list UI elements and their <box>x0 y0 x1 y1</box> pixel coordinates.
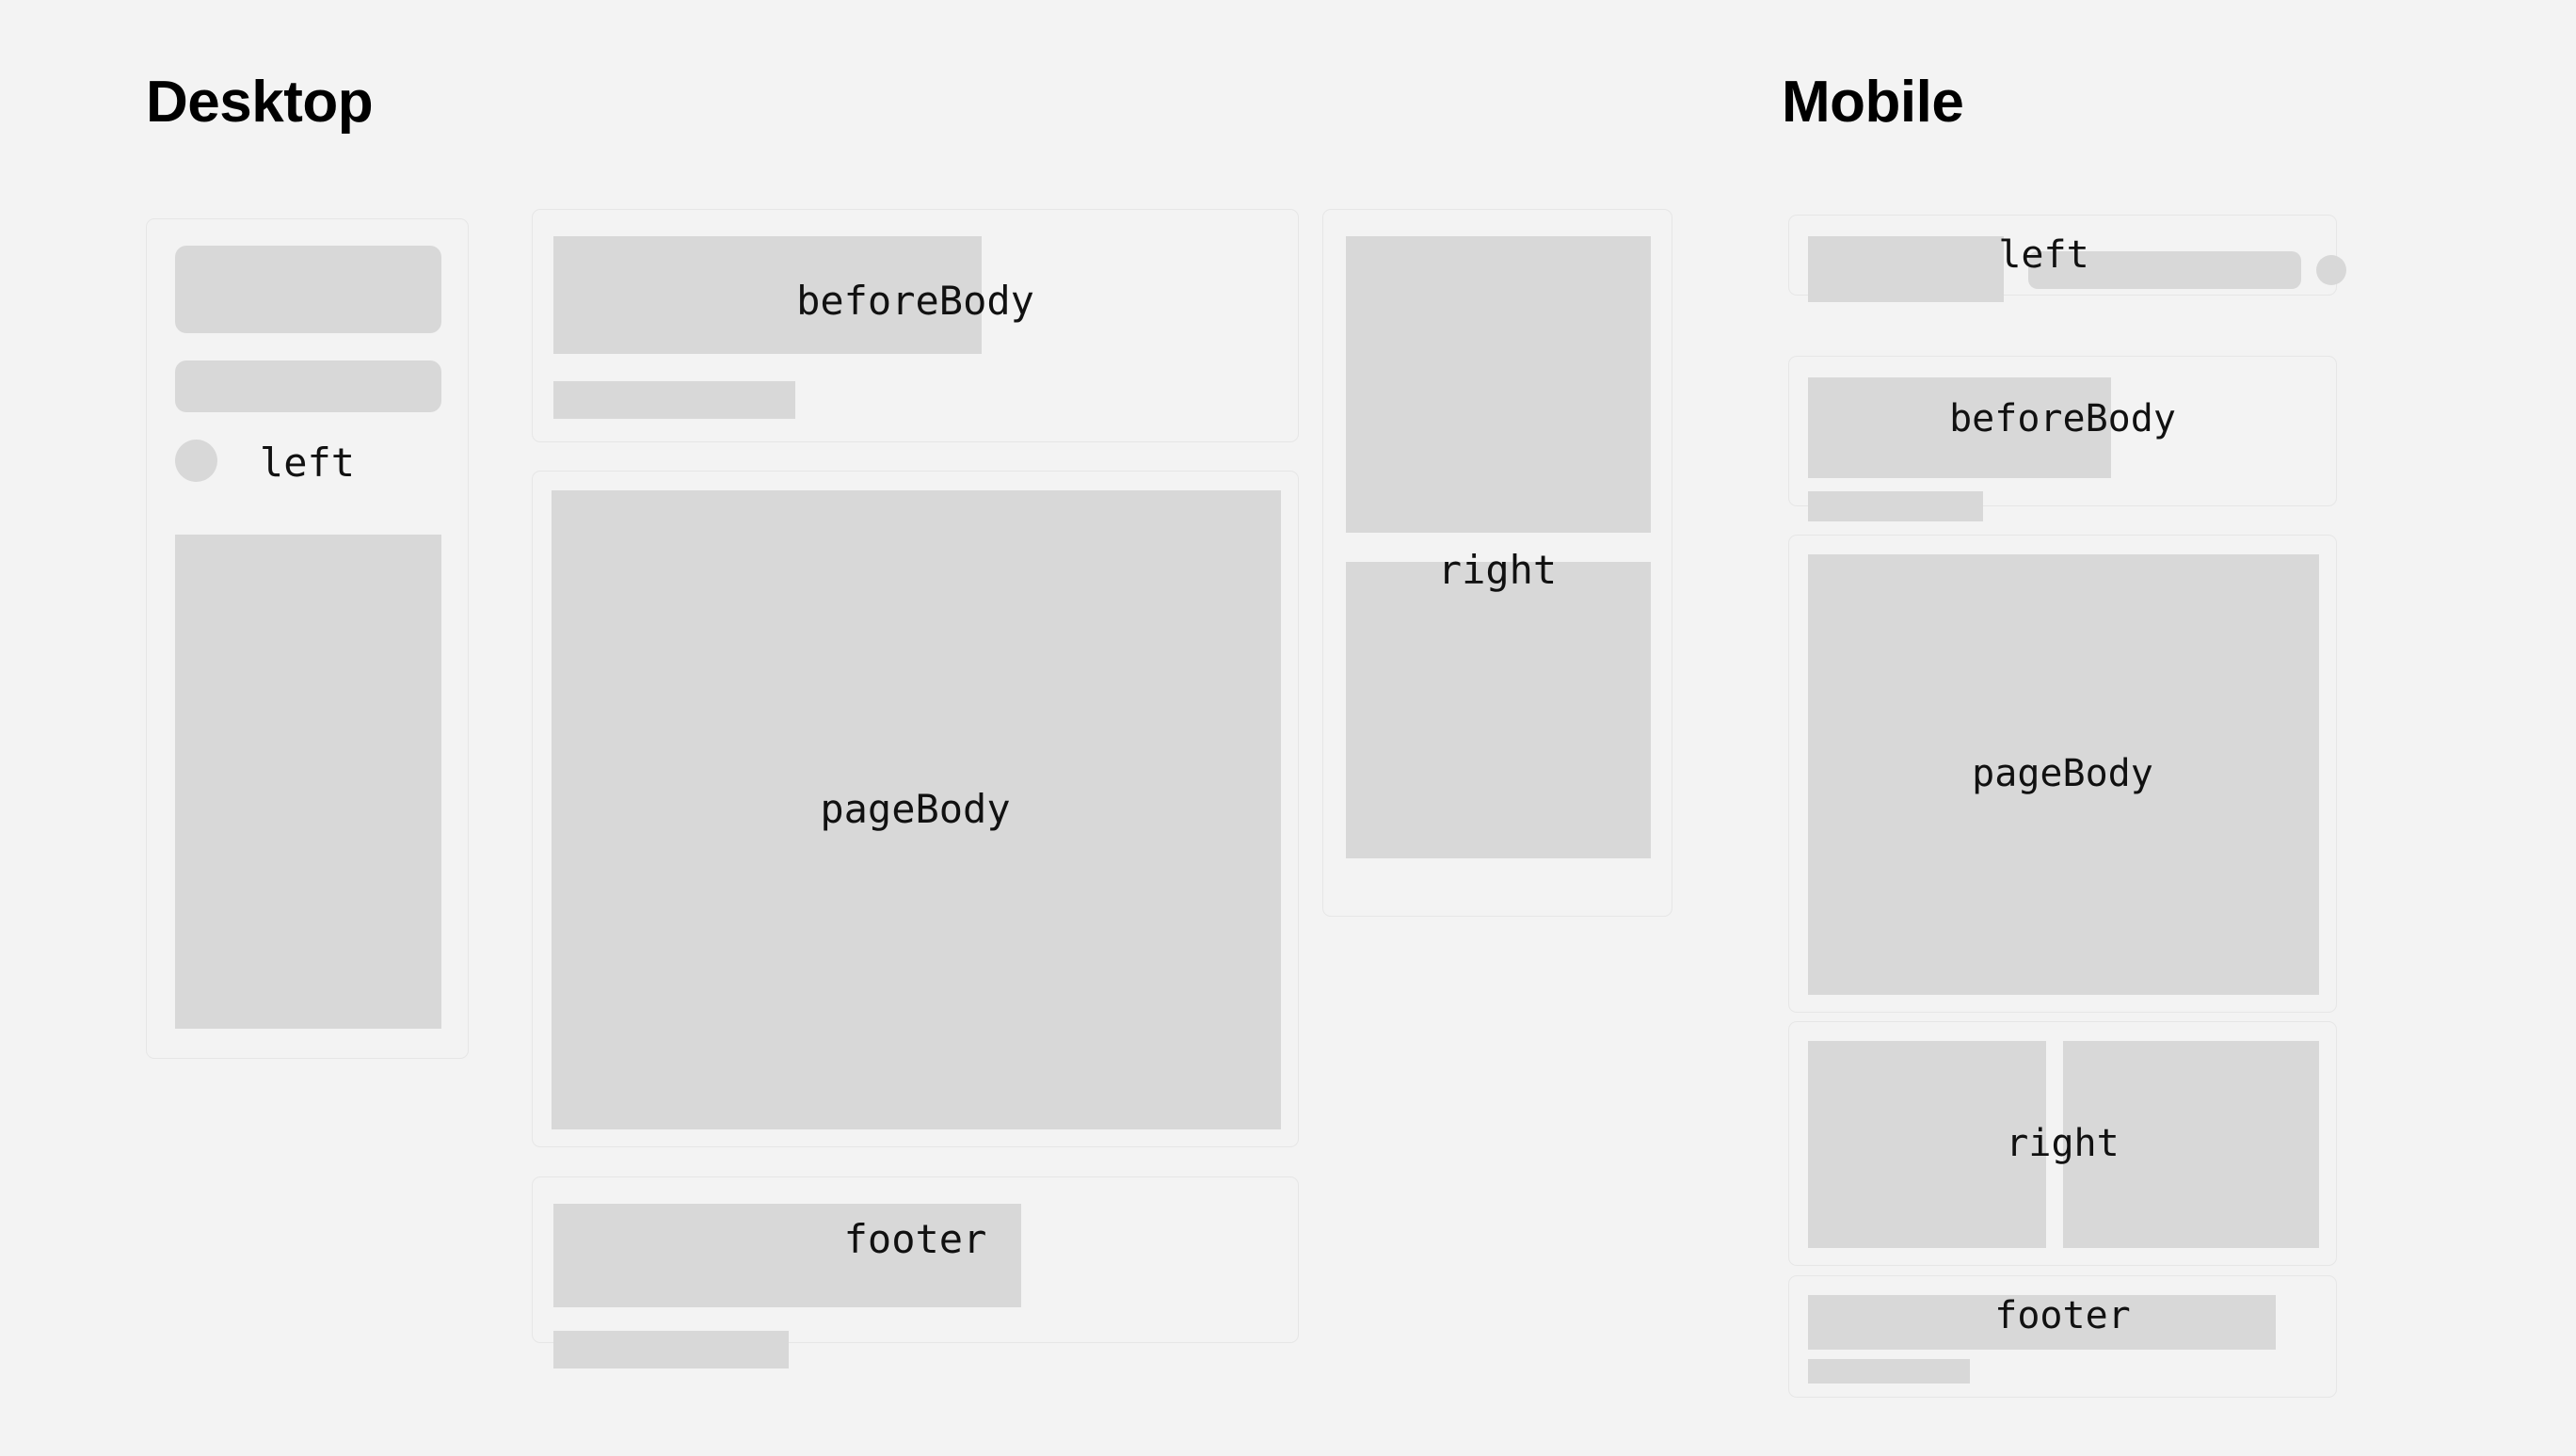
skeleton-block <box>1808 377 2111 478</box>
mobile-section-heading: Mobile <box>1782 73 1963 132</box>
skeleton-block <box>2063 1041 2319 1248</box>
skeleton-block <box>1808 1359 1970 1384</box>
mobile-right-slot-panel[interactable] <box>1788 1021 2337 1266</box>
mobile-footer-slot-panel[interactable] <box>1788 1275 2337 1398</box>
skeleton-block <box>175 360 441 412</box>
desktop-right-slot-panel[interactable] <box>1322 209 1672 917</box>
desktop-beforebody-slot-panel[interactable] <box>532 209 1299 442</box>
skeleton-block <box>1808 1295 2276 1350</box>
layout-preview-canvas: Desktop left beforeBody pageBody right f… <box>0 0 2576 1456</box>
desktop-footer-slot-panel[interactable] <box>532 1176 1299 1343</box>
skeleton-block <box>175 246 441 333</box>
skeleton-block <box>1808 554 2319 995</box>
skeleton-block <box>1808 1041 2046 1248</box>
skeleton-avatar-circle <box>175 440 217 482</box>
mobile-pagebody-slot-panel[interactable] <box>1788 535 2337 1013</box>
mobile-left-slot-panel[interactable] <box>1788 215 2337 296</box>
skeleton-block <box>1808 236 2004 302</box>
skeleton-block <box>1346 562 1651 858</box>
skeleton-avatar-circle <box>2316 255 2346 285</box>
desktop-left-slot-panel[interactable] <box>146 218 469 1059</box>
skeleton-block <box>553 1204 1021 1307</box>
desktop-pagebody-slot-panel[interactable] <box>532 471 1299 1147</box>
desktop-section-heading: Desktop <box>146 73 373 132</box>
skeleton-block <box>175 535 441 1029</box>
skeleton-block <box>1808 491 1983 521</box>
mobile-beforebody-slot-panel[interactable] <box>1788 356 2337 506</box>
skeleton-block <box>553 381 795 419</box>
skeleton-block <box>552 490 1281 1129</box>
skeleton-block <box>1346 236 1651 533</box>
skeleton-block <box>553 236 982 354</box>
skeleton-block <box>553 1331 789 1368</box>
skeleton-pill <box>2028 251 2301 289</box>
